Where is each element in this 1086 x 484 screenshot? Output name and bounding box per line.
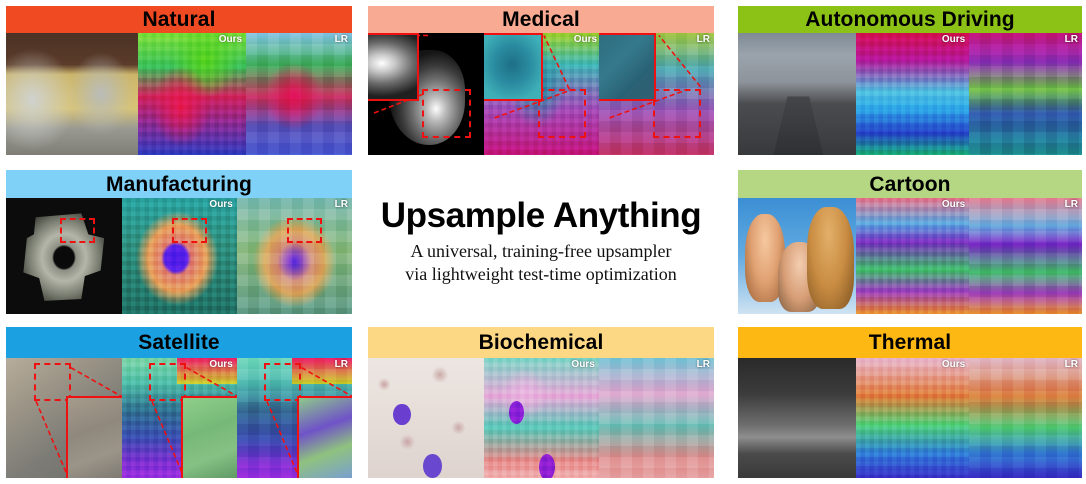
- image-manufacturing-ours: Ours: [122, 198, 237, 314]
- image-biochemical-lr: LR: [599, 358, 714, 478]
- zoom-inset-satellite-lr: [297, 396, 352, 478]
- paper-title-block: Upsample Anything A universal, training-…: [368, 170, 714, 314]
- teaser-figure: Natural Ours LR Medical: [0, 0, 1086, 484]
- panel-images-manufacturing: Ours LR: [6, 198, 352, 314]
- image-biochemical-ours: Ours: [484, 358, 599, 478]
- label-ours-manufacturing: Ours: [209, 199, 232, 210]
- image-manufacturing-input: [6, 198, 122, 314]
- panel-cartoon: Cartoon Ours LR: [738, 170, 1082, 314]
- image-natural-ours: Ours: [138, 33, 246, 155]
- label-lr-driving: LR: [1065, 34, 1078, 45]
- image-thermal-input: [738, 358, 856, 478]
- image-thermal-lr: LR: [969, 358, 1082, 478]
- paper-main-title: Upsample Anything: [381, 198, 702, 235]
- label-ours-natural: Ours: [219, 34, 242, 45]
- image-medical-ours: [484, 33, 599, 155]
- paper-subtitle-line1: A universal, training-free upsampler: [411, 240, 672, 263]
- panel-title-medical: Medical: [368, 6, 714, 33]
- zoom-inset-medical-lr: [599, 33, 657, 101]
- panel-images-satellite: Ours LR: [6, 358, 352, 478]
- panel-title-satellite: Satellite: [6, 327, 352, 358]
- zoom-region-manufacturing-ours: [172, 218, 207, 244]
- panel-thermal: Thermal Ours LR: [738, 327, 1082, 478]
- label-ours-thermal: Ours: [942, 359, 965, 370]
- label-lr-natural: LR: [335, 34, 348, 45]
- panel-biochemical: Biochemical Ours LR: [368, 327, 714, 478]
- label-lr-medical: LR: [697, 34, 710, 45]
- panel-title-manufacturing: Manufacturing: [6, 170, 352, 198]
- label-lr-thermal: LR: [1065, 359, 1078, 370]
- image-natural-input: [6, 33, 138, 155]
- image-satellite-lr: LR: [237, 358, 352, 478]
- panel-images-cartoon: Ours LR: [738, 198, 1082, 314]
- panel-images-autonomous-driving: Ours LR: [738, 33, 1082, 155]
- panel-title-autonomous-driving: Autonomous Driving: [738, 6, 1082, 33]
- image-cartoon-input: [738, 198, 856, 314]
- label-lr-cartoon: LR: [1065, 199, 1078, 210]
- image-cartoon-lr: LR: [969, 198, 1082, 314]
- label-lr-manufacturing: LR: [335, 199, 348, 210]
- label-ours-driving: Ours: [942, 34, 965, 45]
- panel-images-medical: LR Ours: [368, 33, 714, 155]
- panel-images-biochemical: Ours LR: [368, 358, 714, 478]
- label-lr-satellite: LR: [335, 359, 348, 370]
- label-ours-satellite: Ours: [209, 359, 232, 370]
- zoom-inset-medical-input: [368, 33, 419, 101]
- zoom-region-manufacturing-input: [60, 218, 95, 244]
- panel-medical: Medical: [368, 6, 714, 155]
- panel-images-natural: Ours LR: [6, 33, 352, 155]
- zoom-region-manufacturing-lr: [287, 218, 322, 244]
- image-medical-lr: LR: [599, 33, 714, 155]
- image-driving-input: [738, 33, 856, 155]
- zoom-inset-medical-ours: [484, 33, 544, 101]
- image-natural-lr: LR: [246, 33, 352, 155]
- panel-natural: Natural Ours LR: [6, 6, 352, 155]
- panel-title-thermal: Thermal: [738, 327, 1082, 358]
- panel-images-thermal: Ours LR: [738, 358, 1082, 478]
- panel-autonomous-driving: Autonomous Driving Ours LR: [738, 6, 1082, 155]
- image-driving-ours: Ours: [856, 33, 969, 155]
- image-satellite-input: [6, 358, 122, 478]
- paper-subtitle-line2: via lightweight test-time optimization: [405, 263, 676, 286]
- zoom-inset-satellite-ours: [181, 396, 236, 478]
- image-driving-lr: LR: [969, 33, 1082, 155]
- panel-title-cartoon: Cartoon: [738, 170, 1082, 198]
- zoom-inset-satellite-input: [66, 396, 121, 478]
- image-thermal-ours: Ours: [856, 358, 969, 478]
- label-ours-cartoon: Ours: [942, 199, 965, 210]
- image-cartoon-ours: Ours: [856, 198, 969, 314]
- image-biochemical-input: [368, 358, 484, 478]
- label-ours-medical: Ours: [574, 34, 597, 45]
- image-manufacturing-lr: LR: [237, 198, 352, 314]
- panel-satellite: Satellite Ours: [6, 327, 352, 478]
- panel-manufacturing: Manufacturing Ours LR: [6, 170, 352, 314]
- label-ours-biochemical: Ours: [571, 359, 594, 370]
- panel-title-natural: Natural: [6, 6, 352, 33]
- image-satellite-ours: Ours: [122, 358, 237, 478]
- label-lr-biochemical: LR: [697, 359, 710, 370]
- image-medical-input: [368, 33, 484, 155]
- panel-title-biochemical: Biochemical: [368, 327, 714, 358]
